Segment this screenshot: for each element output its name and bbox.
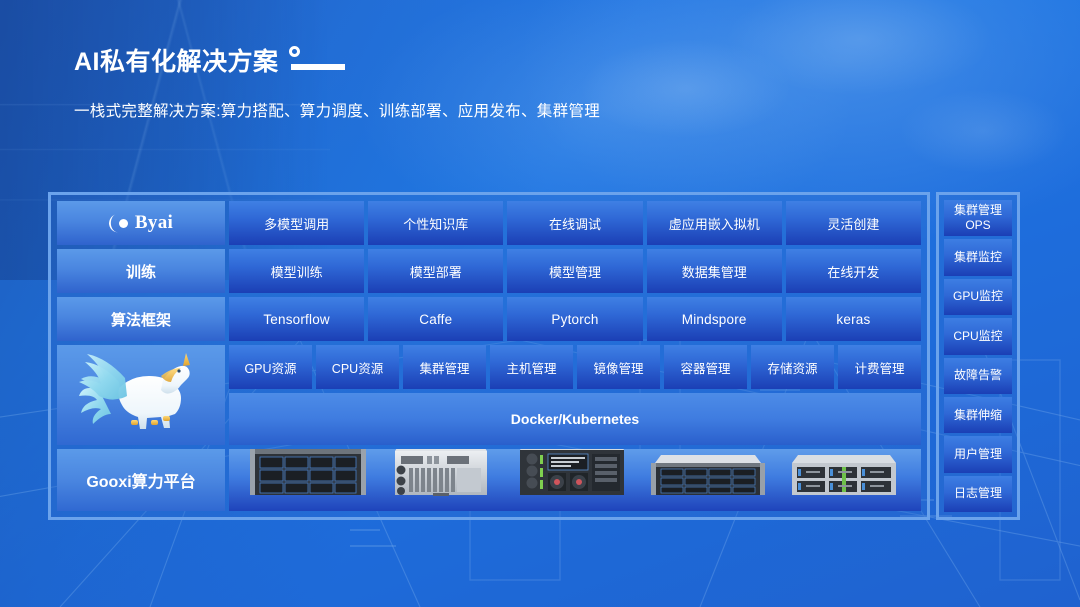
resource-chip[interactable]: 主机管理 xyxy=(490,345,573,389)
ring-icon xyxy=(289,46,300,57)
row-cells-framework: Tensorflow Caffe Pytorch Mindspore keras xyxy=(229,297,921,341)
row-label-byai[interactable]: Byai xyxy=(57,201,225,245)
stack-row-byai: Byai 多模型调用 个性知识库 在线调试 虚应用嵌入拟机 灵活创建 xyxy=(57,201,921,245)
pegasus-mascot-icon xyxy=(57,345,225,445)
resource-chip[interactable]: 存储资源 xyxy=(751,345,834,389)
stack-row-training: 训练 模型训练 模型部署 模型管理 数据集管理 在线开发 xyxy=(57,249,921,293)
cell-item[interactable]: 灵活创建 xyxy=(786,201,921,245)
sidebar-item-cluster-scaling[interactable]: 集群伸缩 xyxy=(944,397,1012,433)
sidebar-item-log-management[interactable]: 日志管理 xyxy=(944,476,1012,512)
server-image-1 xyxy=(248,449,368,504)
stack-row-framework: 算法框架 Tensorflow Caffe Pytorch Mindspore … xyxy=(57,297,921,341)
ops-sidebar: 集群管理 OPS 集群监控 GPU监控 CPU监控 故障告警 集群伸缩 用户管理… xyxy=(936,192,1020,520)
byai-logo: Byai xyxy=(109,212,173,234)
server-hardware-strip xyxy=(229,449,921,511)
sidebar-item-fault-alarm[interactable]: 故障告警 xyxy=(944,358,1012,394)
byai-wordmark: Byai xyxy=(135,212,173,234)
page-subtitle: 一栈式完整解决方案:算力搭配、算力调度、训练部署、应用发布、集群管理 xyxy=(74,99,600,121)
cell-item[interactable]: Tensorflow xyxy=(229,297,364,341)
row-cells-training: 模型训练 模型部署 模型管理 数据集管理 在线开发 xyxy=(229,249,921,293)
stack-row-platform: Gooxi算力平台 xyxy=(57,449,921,511)
byai-moon-icon xyxy=(109,214,128,233)
sidebar-item-user-management[interactable]: 用户管理 xyxy=(944,436,1012,472)
server-image-5 xyxy=(786,451,902,504)
sidebar-item-gpu-monitor[interactable]: GPU监控 xyxy=(944,279,1012,315)
cell-item[interactable]: 模型部署 xyxy=(368,249,503,293)
cell-item[interactable]: 个性知识库 xyxy=(368,201,503,245)
title-row: AI私有化解决方案 xyxy=(74,46,600,75)
title-decoration xyxy=(289,46,345,74)
server-image-4 xyxy=(649,451,767,504)
row-cells-byai: 多模型调用 个性知识库 在线调试 虚应用嵌入拟机 灵活创建 xyxy=(229,201,921,245)
cell-item[interactable]: 在线调试 xyxy=(507,201,642,245)
underline-bar-icon xyxy=(291,64,345,70)
resource-chip[interactable]: 集群管理 xyxy=(403,345,486,389)
cell-item[interactable]: 模型训练 xyxy=(229,249,364,293)
stack-row-resources: GPU资源 CPU资源 集群管理 主机管理 镜像管理 容器管理 存储资源 计费管… xyxy=(57,345,921,445)
cell-item[interactable]: 在线开发 xyxy=(786,249,921,293)
resource-chip[interactable]: 计费管理 xyxy=(838,345,921,389)
cell-item[interactable]: Mindspore xyxy=(647,297,782,341)
sidebar-item-cpu-monitor[interactable]: CPU监控 xyxy=(944,318,1012,354)
cell-item[interactable]: Pytorch xyxy=(507,297,642,341)
server-image-3 xyxy=(514,449,630,504)
row-label-platform[interactable]: Gooxi算力平台 xyxy=(57,449,225,511)
sidebar-item-cluster-management-ops[interactable]: 集群管理 OPS xyxy=(944,200,1012,236)
sidebar-item-cluster-monitor[interactable]: 集群监控 xyxy=(944,239,1012,275)
slide-header: AI私有化解决方案 一栈式完整解决方案:算力搭配、算力调度、训练部署、应用发布、… xyxy=(74,46,600,121)
docker-kubernetes-bar[interactable]: Docker/Kubernetes xyxy=(229,393,921,445)
resource-chip[interactable]: GPU资源 xyxy=(229,345,312,389)
page-title: AI私有化解决方案 xyxy=(74,50,279,75)
cell-item[interactable]: Caffe xyxy=(368,297,503,341)
resource-chip[interactable]: CPU资源 xyxy=(316,345,399,389)
cell-item[interactable]: 模型管理 xyxy=(507,249,642,293)
resource-chip[interactable]: 镜像管理 xyxy=(577,345,660,389)
cell-item[interactable]: 多模型调用 xyxy=(229,201,364,245)
row-label-framework[interactable]: 算法框架 xyxy=(57,297,225,341)
server-image-2 xyxy=(387,449,495,504)
slide-canvas: AI私有化解决方案 一栈式完整解决方案:算力搭配、算力调度、训练部署、应用发布、… xyxy=(0,0,1080,607)
resource-stack: GPU资源 CPU资源 集群管理 主机管理 镜像管理 容器管理 存储资源 计费管… xyxy=(229,345,921,445)
architecture-panel: Byai 多模型调用 个性知识库 在线调试 虚应用嵌入拟机 灵活创建 训练 模型… xyxy=(48,192,930,520)
cell-item[interactable]: 数据集管理 xyxy=(647,249,782,293)
resource-chip-row: GPU资源 CPU资源 集群管理 主机管理 镜像管理 容器管理 存储资源 计费管… xyxy=(229,345,921,389)
row-label-training[interactable]: 训练 xyxy=(57,249,225,293)
resource-chip[interactable]: 容器管理 xyxy=(664,345,747,389)
cell-item[interactable]: 虚应用嵌入拟机 xyxy=(647,201,782,245)
cell-item[interactable]: keras xyxy=(786,297,921,341)
